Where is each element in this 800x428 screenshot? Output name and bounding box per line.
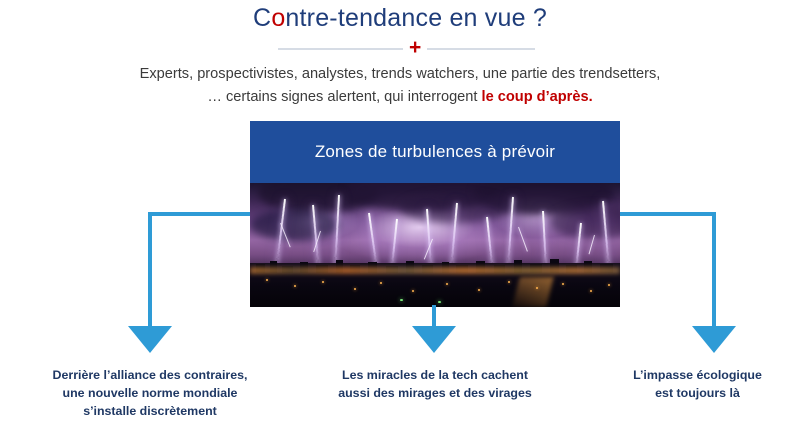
subhead-line-1: Experts, prospectivistes, analystes, tre… bbox=[0, 63, 800, 86]
city-lamp bbox=[266, 279, 268, 281]
card-banner-label: Zones de turbulences à prévoir bbox=[315, 142, 555, 162]
subhead-line-2-plain: … certains signes alertent, qui interrog… bbox=[207, 89, 481, 105]
city-light-band bbox=[250, 267, 620, 274]
turbulence-card: Zones de turbulences à prévoir bbox=[250, 121, 620, 307]
page-title-rest: ntre-tendance en vue ? bbox=[285, 4, 547, 32]
page-title-letter-c: C bbox=[253, 4, 271, 32]
arrowhead-right bbox=[692, 326, 736, 353]
caption-left-line-3: s’installe discrètement bbox=[10, 402, 290, 420]
city-lamp bbox=[446, 283, 448, 285]
city-lamp bbox=[508, 281, 510, 283]
green-city-lamp bbox=[400, 299, 403, 301]
city-lamp bbox=[536, 287, 538, 289]
connector-line-right bbox=[620, 214, 714, 330]
city-lamp bbox=[562, 283, 564, 285]
city-lamp bbox=[380, 282, 382, 284]
city-lamp bbox=[354, 288, 356, 290]
caption-right-line-2: est toujours là bbox=[600, 384, 795, 402]
subhead-paragraph: Experts, prospectivistes, analystes, tre… bbox=[0, 63, 800, 109]
caption-right: L’impasse écologique est toujours là bbox=[600, 366, 795, 402]
green-city-lamp bbox=[438, 301, 441, 303]
cloud-shape bbox=[250, 209, 340, 241]
city-lamp bbox=[294, 285, 296, 287]
page-title-accent-letter: o bbox=[271, 4, 285, 32]
storm-photo bbox=[250, 183, 620, 307]
city-lamp bbox=[590, 290, 592, 292]
city-lamp bbox=[412, 290, 414, 292]
city-skyline bbox=[250, 263, 620, 307]
caption-center-line-2: aussi des mirages et des virages bbox=[300, 384, 570, 402]
city-lamp bbox=[322, 281, 324, 283]
caption-left-line-2: une nouvelle norme mondiale bbox=[10, 384, 290, 402]
caption-left-line-1: Derrière l’alliance des contraires, bbox=[10, 366, 290, 384]
road-light-trail bbox=[512, 277, 553, 307]
arrowhead-center bbox=[412, 326, 456, 353]
card-banner: Zones de turbulences à prévoir bbox=[250, 121, 620, 183]
divider-rule-left bbox=[278, 48, 403, 50]
city-lamp bbox=[608, 284, 610, 286]
title-divider: + bbox=[265, 40, 535, 58]
city-lamp bbox=[478, 289, 480, 291]
caption-center: Les miracles de la tech cachent aussi de… bbox=[300, 366, 570, 402]
subhead-line-2: … certains signes alertent, qui interrog… bbox=[0, 86, 800, 109]
caption-right-line-1: L’impasse écologique bbox=[600, 366, 795, 384]
page-title: Contre-tendance en vue ? bbox=[0, 4, 800, 33]
divider-rule-right bbox=[427, 48, 535, 50]
caption-center-line-1: Les miracles de la tech cachent bbox=[300, 366, 570, 384]
caption-left: Derrière l’alliance des contraires, une … bbox=[10, 366, 290, 420]
subhead-line-2-highlight: le coup d’après. bbox=[482, 89, 593, 105]
arrowhead-left bbox=[128, 326, 172, 353]
plus-icon: + bbox=[409, 37, 421, 58]
connector-line-left bbox=[150, 214, 250, 330]
